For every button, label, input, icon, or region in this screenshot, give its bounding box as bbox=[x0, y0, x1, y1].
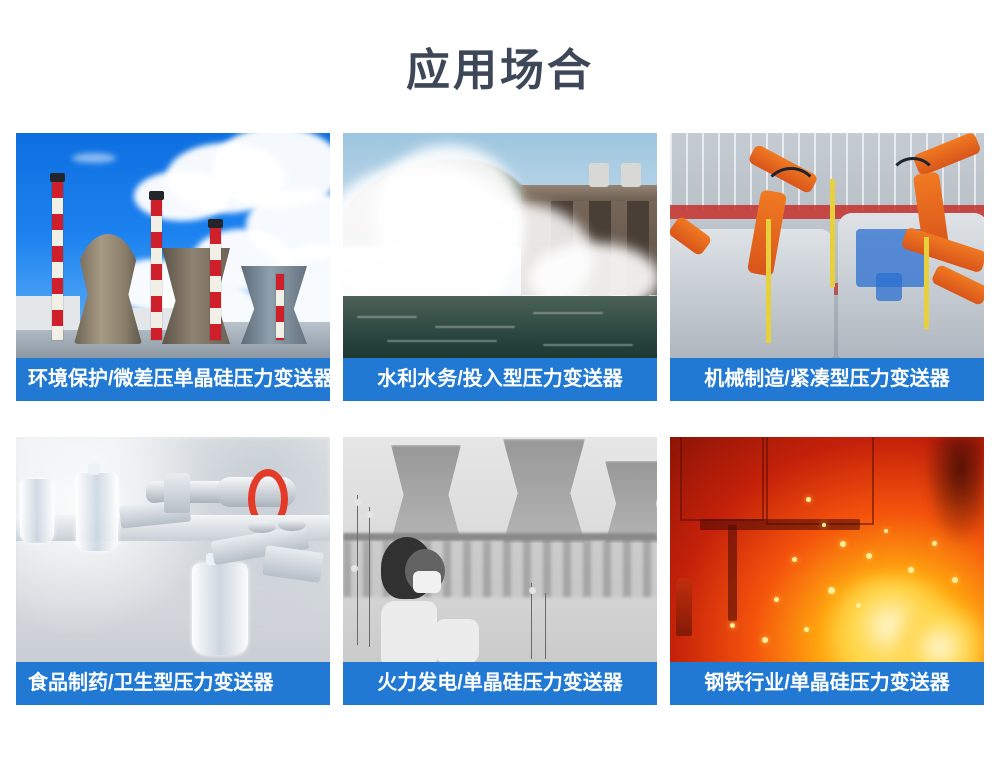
card-caption: 环境保护/微差压单晶硅压力变送器 bbox=[16, 358, 330, 401]
page-title: 应用场合 bbox=[0, 44, 1000, 98]
application-card-water-conservancy[interactable]: 水利水务/投入型压力变送器 bbox=[343, 133, 657, 401]
application-card-food-pharmaceutical[interactable]: 食品制药/卫生型压力变送器 bbox=[16, 437, 330, 705]
pharmaceutical-vial-filling-machine-photo bbox=[16, 437, 330, 662]
application-card-steel-industry[interactable]: 钢铁行业/单晶硅压力变送器 bbox=[670, 437, 984, 705]
card-caption: 机械制造/紧凑型压力变送器 bbox=[670, 358, 984, 401]
card-caption: 钢铁行业/单晶硅压力变送器 bbox=[670, 662, 984, 705]
card-caption: 火力发电/单晶硅压力变送器 bbox=[343, 662, 657, 705]
robotic-car-assembly-line-photo bbox=[670, 133, 984, 358]
steel-furnace-molten-sparks-photo bbox=[670, 437, 984, 662]
card-caption: 食品制药/卫生型压力变送器 bbox=[16, 662, 330, 705]
card-caption: 水利水务/投入型压力变送器 bbox=[343, 358, 657, 401]
application-card-environmental-protection[interactable]: 环境保护/微差压单晶硅压力变送器 bbox=[16, 133, 330, 401]
hydroelectric-dam-spillway-photo bbox=[343, 133, 657, 358]
power-plant-smokestacks-photo bbox=[16, 133, 330, 358]
application-cards-grid: 环境保护/微差压单晶硅压力变送器 bbox=[16, 133, 984, 705]
application-card-machinery-manufacturing[interactable]: 机械制造/紧凑型压力变送器 bbox=[670, 133, 984, 401]
application-card-thermal-power[interactable]: 火力发电/单晶硅压力变送器 bbox=[343, 437, 657, 705]
child-wearing-mask-cooling-towers-monochrome-photo bbox=[343, 437, 657, 662]
application-scenarios-page: 应用场合 bbox=[0, 0, 1000, 759]
